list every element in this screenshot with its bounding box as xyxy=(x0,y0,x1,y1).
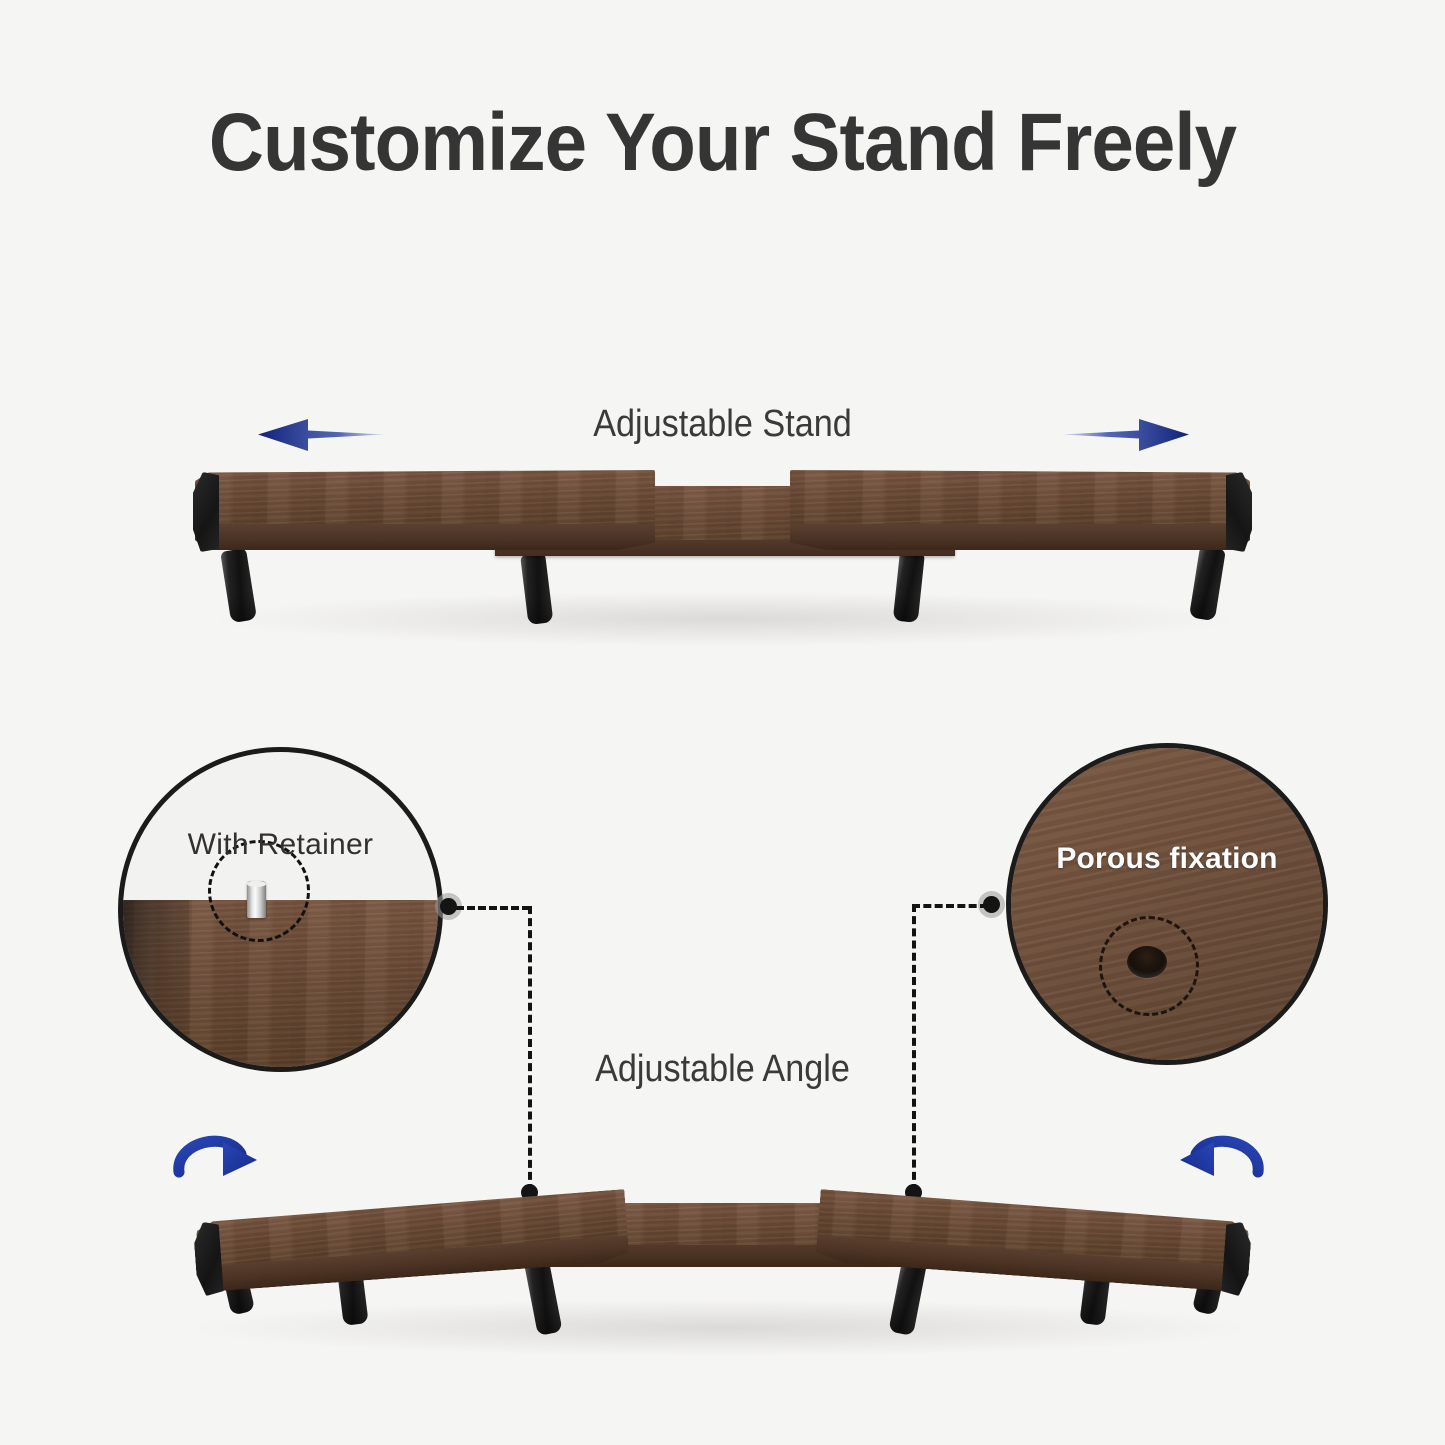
arrow-left-icon xyxy=(250,412,385,456)
page-title: Customize Your Stand Freely xyxy=(51,96,1395,190)
porous-wood-surface xyxy=(1007,744,1327,1064)
arrow-right-icon xyxy=(1062,412,1197,456)
label-adjustable-angle: Adjustable Angle xyxy=(72,1048,1373,1091)
stand-right-panel-edge xyxy=(790,524,1250,550)
stand-right-panel xyxy=(790,470,1250,532)
connector-line-left-horizontal xyxy=(456,906,530,910)
connector-line-right-horizontal xyxy=(912,904,988,908)
callout-with-retainer[interactable]: With Retainer xyxy=(118,747,443,1072)
stand-left-panel xyxy=(195,470,655,532)
stand-leg xyxy=(893,551,925,623)
stand-leg xyxy=(520,552,553,625)
callout-porous-fixation[interactable]: Porous fixation xyxy=(1006,743,1328,1065)
stand-left-panel-edge xyxy=(195,524,655,550)
infographic-canvas: Customize Your Stand Freely Adjustable S… xyxy=(0,0,1445,1445)
monitor-stand-angled xyxy=(185,1175,1260,1335)
connector-dot-callout-left xyxy=(440,898,457,915)
stand-right-wing xyxy=(815,1189,1249,1294)
stand-leg xyxy=(220,548,257,623)
monitor-stand-extended xyxy=(195,462,1250,627)
stand-leg xyxy=(1189,546,1226,621)
stand-left-wing xyxy=(195,1189,629,1294)
retainer-pin-icon xyxy=(247,881,266,918)
screw-hole-icon xyxy=(1127,946,1167,978)
